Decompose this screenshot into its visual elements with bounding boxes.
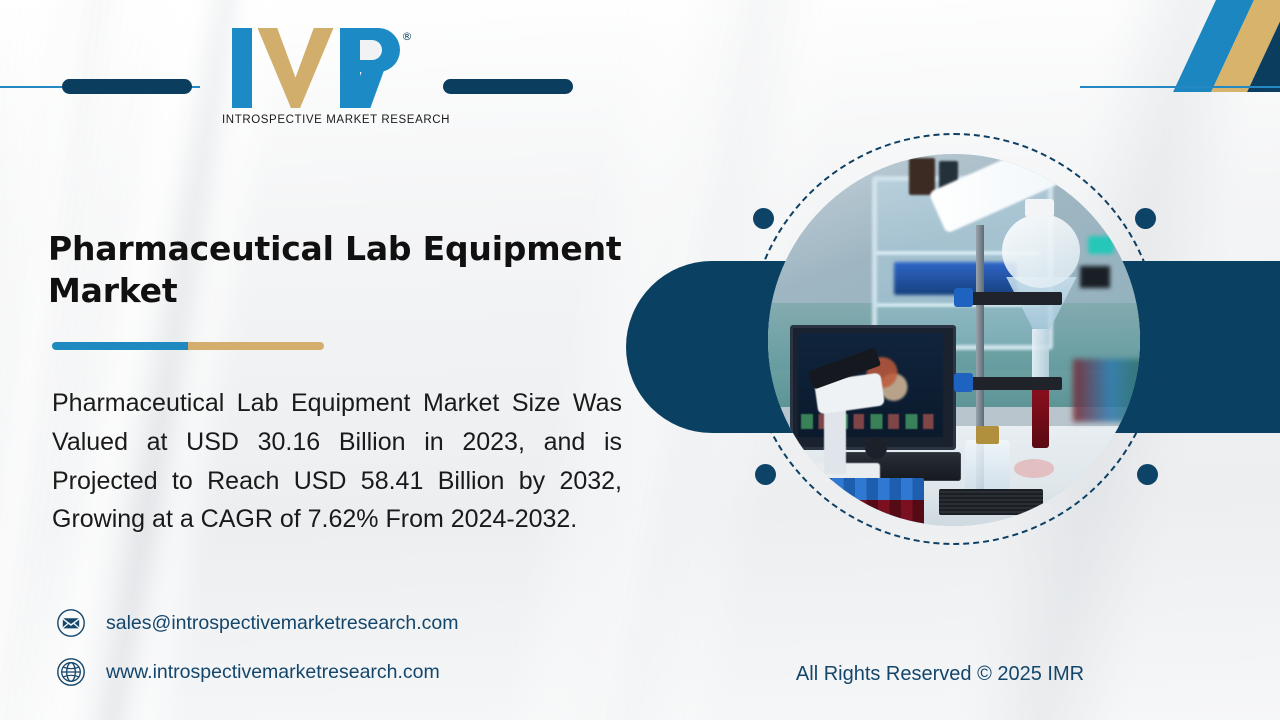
photo-clamp-knob <box>954 288 973 307</box>
photo-screen-chart <box>801 414 935 429</box>
header-rule-right <box>1080 86 1280 88</box>
photo-teal-light <box>1088 236 1114 255</box>
photo-reagent-jar <box>965 440 1010 492</box>
ring-dot-top-right <box>1135 208 1156 229</box>
copyright-notice: All Rights Reserved © 2025 IMR <box>740 663 1140 686</box>
photo-flask-stopper <box>1025 199 1055 218</box>
logo-letter-i-icon <box>232 28 252 108</box>
contact-email[interactable]: sales@introspectivemarketresearch.com <box>56 608 459 638</box>
ring-dot-top-left <box>753 208 774 229</box>
marketing-banner: ® INTROSPECTIVE MARKET RESEARCH Pharmace… <box>0 0 1280 720</box>
registered-trademark-icon: ® <box>402 30 413 43</box>
photo-microscope-knob <box>865 437 887 459</box>
photo-petri-dish <box>1014 459 1055 478</box>
ring-dot-bottom-left <box>755 464 776 485</box>
market-summary-text: Pharmaceutical Lab Equipment Market Size… <box>52 384 622 539</box>
title-divider <box>52 342 324 350</box>
photo-retort-stand-base <box>939 489 1043 515</box>
email-address: sales@introspectivemarketresearch.com <box>106 612 459 635</box>
header-bar-left <box>62 79 192 94</box>
photo-background-monitor <box>1073 359 1140 422</box>
photo-blood-samples <box>809 500 924 526</box>
logo-letter-r-counter-icon <box>360 40 382 60</box>
corner-stripes <box>1080 0 1280 92</box>
page-title: Pharmaceutical Lab Equipment Market <box>48 228 628 311</box>
website-url: www.introspectivemarketresearch.com <box>106 661 440 684</box>
title-divider-blue-segment <box>52 342 188 350</box>
ring-dot-bottom-right <box>1137 464 1158 485</box>
lab-equipment-photo <box>768 154 1140 526</box>
photo-clamp-knob <box>954 373 973 392</box>
title-divider-gold-segment <box>188 342 324 350</box>
globe-icon <box>56 657 86 687</box>
photo-background-object <box>1080 266 1110 288</box>
logo-tagline: INTROSPECTIVE MARKET RESEARCH <box>222 114 422 126</box>
envelope-icon <box>56 608 86 638</box>
photo-clamp <box>965 292 1062 305</box>
photo-round-flask <box>1002 214 1080 288</box>
header-bar-right <box>443 79 573 94</box>
photo-blood-sample <box>1032 385 1049 448</box>
photo-clamp <box>965 377 1062 390</box>
photo-reagent-jar-cap <box>976 426 998 445</box>
logo-letter-m-icon <box>258 28 334 108</box>
photo-bottle <box>909 158 935 195</box>
logo-mark: ® <box>230 28 415 108</box>
contact-website[interactable]: www.introspectivemarketresearch.com <box>56 657 440 687</box>
imr-logo: ® INTROSPECTIVE MARKET RESEARCH <box>222 28 422 140</box>
